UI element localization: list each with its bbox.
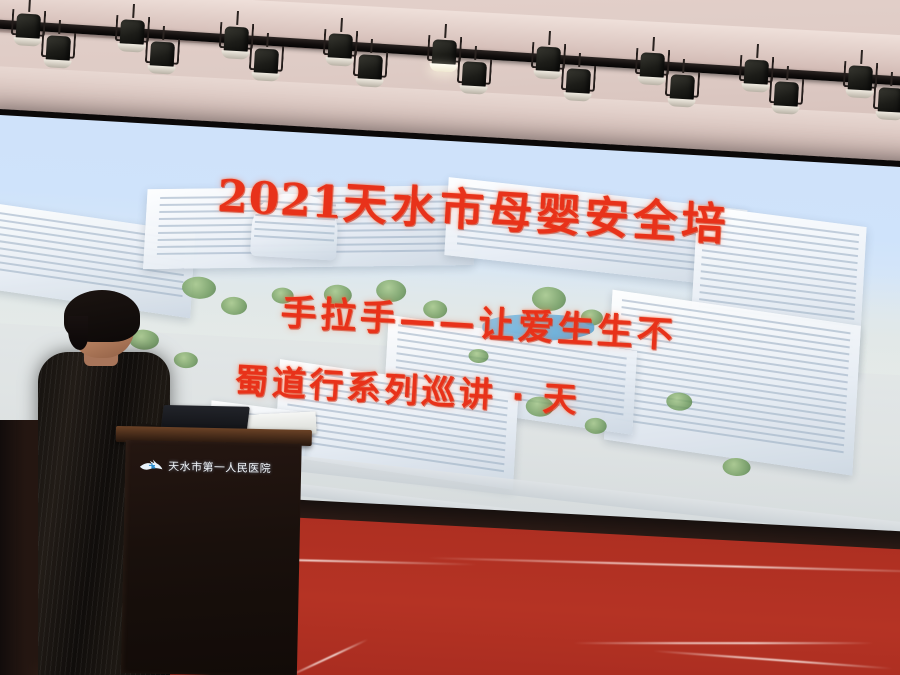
building-floor-line — [615, 411, 844, 446]
spotlight-housing — [536, 46, 561, 73]
spotlight-housing — [774, 81, 799, 108]
hospital-dove-logo-icon — [139, 458, 163, 473]
spotlight-housing — [566, 68, 591, 95]
spotlight-housing — [46, 35, 71, 62]
building-floor-line — [254, 235, 333, 242]
presenter-hair — [64, 290, 140, 342]
spotlight-lens — [741, 83, 769, 93]
spotlight-housing — [254, 48, 279, 75]
wall-light-streak — [653, 650, 893, 670]
spotlight-housing — [328, 33, 353, 60]
spotlight-lens — [771, 105, 799, 115]
spotlight-lens — [533, 70, 561, 80]
spotlight-lens — [429, 63, 457, 73]
spotlight-lens — [845, 89, 873, 99]
screenshot-root: 2021天水市母婴安全培 手拉手——让爱生生不 蜀道行系列巡讲 · 天 — [0, 0, 900, 675]
spotlight-lens — [637, 76, 665, 86]
spotlight-lens — [563, 92, 591, 102]
spotlight-housing — [16, 13, 41, 40]
lectern-nameplate: 天水市第一人民医院 — [139, 452, 290, 481]
slide-title-year: 2021 — [216, 171, 345, 229]
lectern: 天水市第一人民医院 — [115, 426, 308, 675]
spotlight-lens — [325, 57, 353, 67]
spotlight-housing — [744, 59, 769, 86]
wall-light-streak — [428, 557, 900, 574]
lectern-nameplate-text: 天水市第一人民医院 — [168, 458, 271, 476]
spotlight-lens — [221, 50, 249, 60]
spotlight-lens — [13, 37, 41, 47]
spotlight-lens — [117, 44, 145, 54]
spotlight-lens — [43, 59, 71, 69]
wall-light-streak — [573, 642, 873, 644]
lectern-body: 天水市第一人民医院 — [121, 440, 302, 675]
